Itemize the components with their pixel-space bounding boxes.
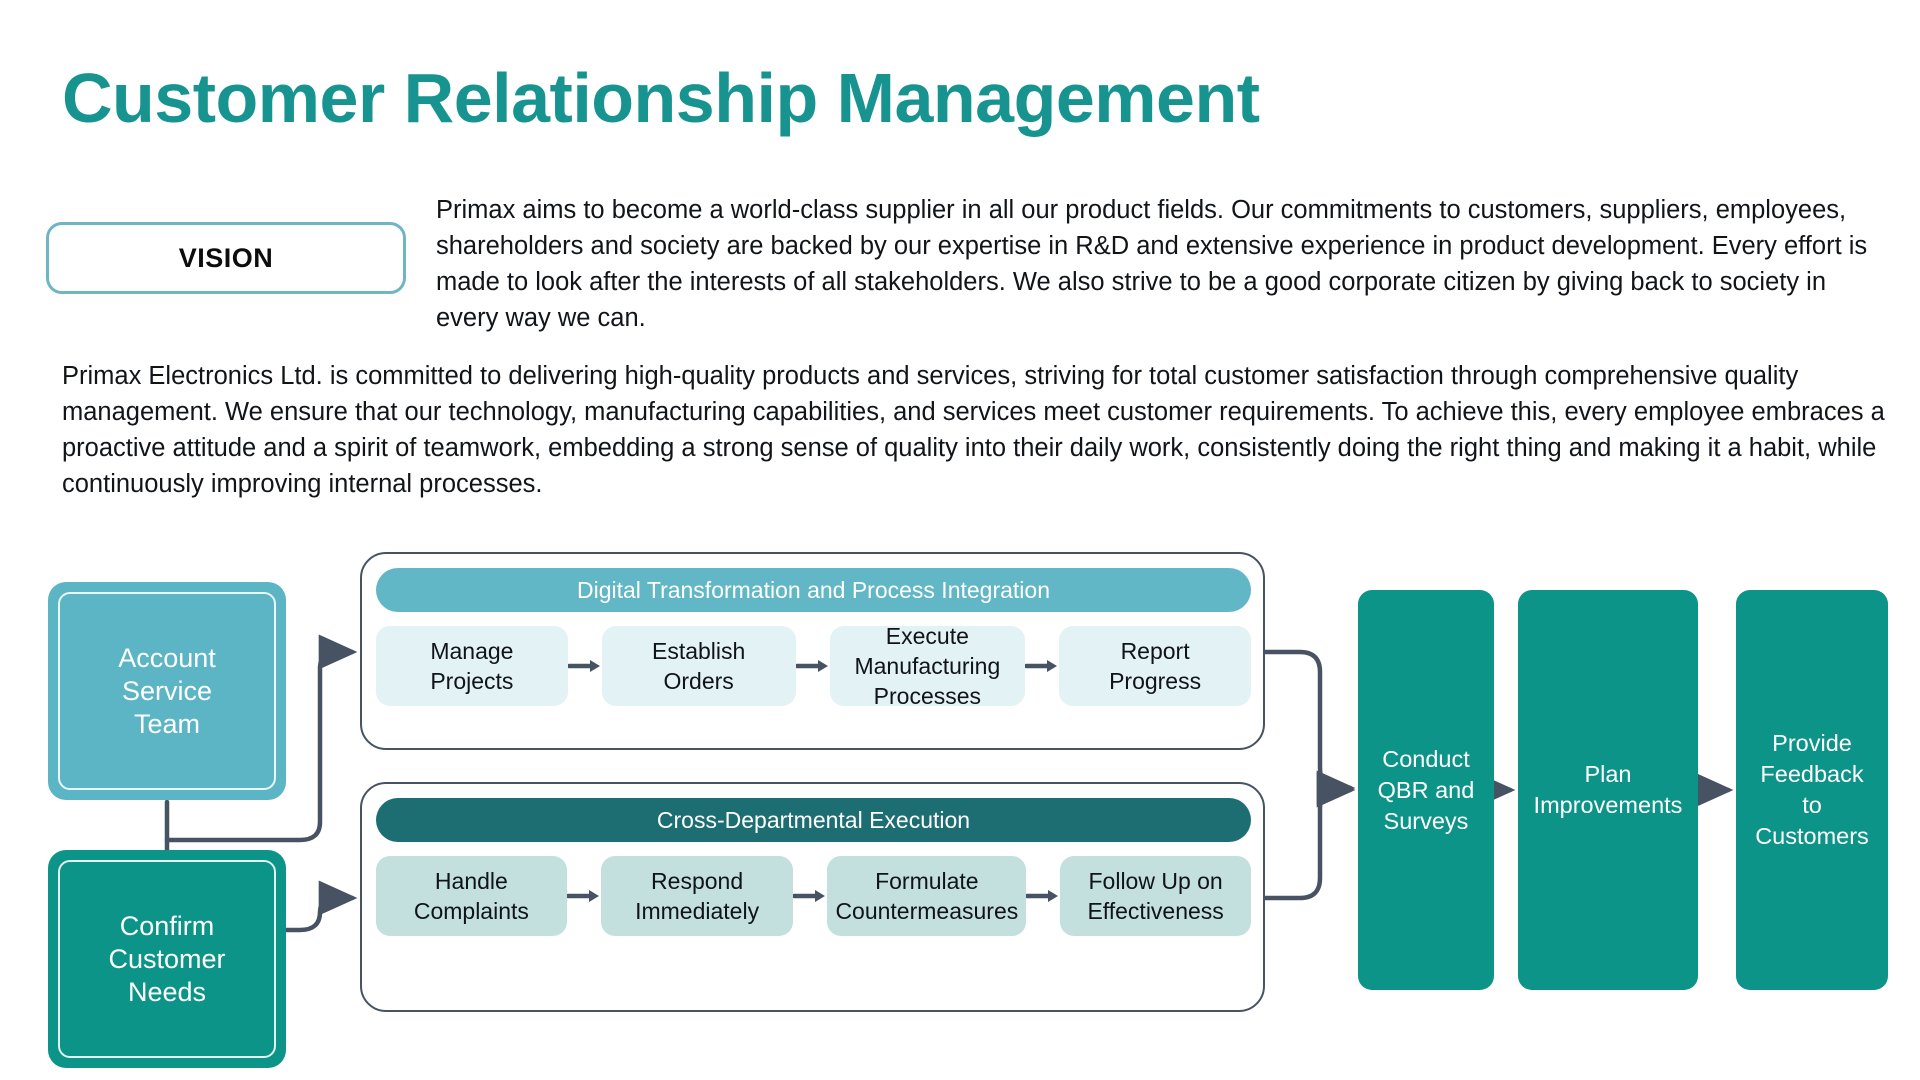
process-flow-diagram: Account Service Team Confirm Customer Ne… [0, 540, 1920, 1080]
step-box[interactable]: Formulate Countermeasures [827, 856, 1026, 936]
quality-policy-paragraph: Primax Electronics Ltd. is committed to … [62, 358, 1898, 502]
step-arrow-icon [567, 888, 601, 904]
outcome-conduct-qbr-and-surveys[interactable]: Conduct QBR and Surveys [1358, 590, 1494, 990]
swimlane-digital-transformation: Digital Transformation and Process Integ… [360, 552, 1265, 750]
step-arrow-icon [1025, 658, 1059, 674]
outcome-plan-improvements[interactable]: Plan Improvements [1518, 590, 1698, 990]
swimlane-cross-departmental-execution: Cross-Departmental Execution Handle Comp… [360, 782, 1265, 1012]
swimlane-steps: Handle Complaints Respond Immediately Fo… [376, 856, 1251, 936]
actor-label: Confirm Customer Needs [58, 860, 276, 1058]
step-box[interactable]: Handle Complaints [376, 856, 567, 936]
outcome-provide-feedback-to-customers[interactable]: Provide Feedback to Customers [1736, 590, 1888, 990]
step-arrow-icon [1026, 888, 1060, 904]
actor-confirm-customer-needs[interactable]: Confirm Customer Needs [48, 850, 286, 1068]
vision-badge-label: VISION [179, 243, 274, 274]
actor-label: Account Service Team [58, 592, 276, 790]
swimlane-header: Digital Transformation and Process Integ… [376, 568, 1251, 612]
step-box[interactable]: Manage Projects [376, 626, 568, 706]
slide-canvas: Customer Relationship Management VISION … [0, 0, 1920, 1080]
swimlane-steps: Manage Projects Establish Orders Execute… [376, 626, 1251, 706]
vision-paragraph: Primax aims to become a world-class supp… [436, 192, 1891, 336]
step-box[interactable]: Follow Up on Effectiveness [1060, 856, 1251, 936]
step-box[interactable]: Execute Manufacturing Processes [830, 626, 1026, 706]
step-box[interactable]: Establish Orders [602, 626, 796, 706]
step-box[interactable]: Respond Immediately [601, 856, 794, 936]
step-box[interactable]: Report Progress [1059, 626, 1251, 706]
step-arrow-icon [793, 888, 827, 904]
page-title: Customer Relationship Management [62, 58, 1260, 138]
step-arrow-icon [796, 658, 830, 674]
vision-badge: VISION [46, 222, 406, 294]
actor-account-service-team[interactable]: Account Service Team [48, 582, 286, 800]
swimlane-header: Cross-Departmental Execution [376, 798, 1251, 842]
step-arrow-icon [568, 658, 602, 674]
